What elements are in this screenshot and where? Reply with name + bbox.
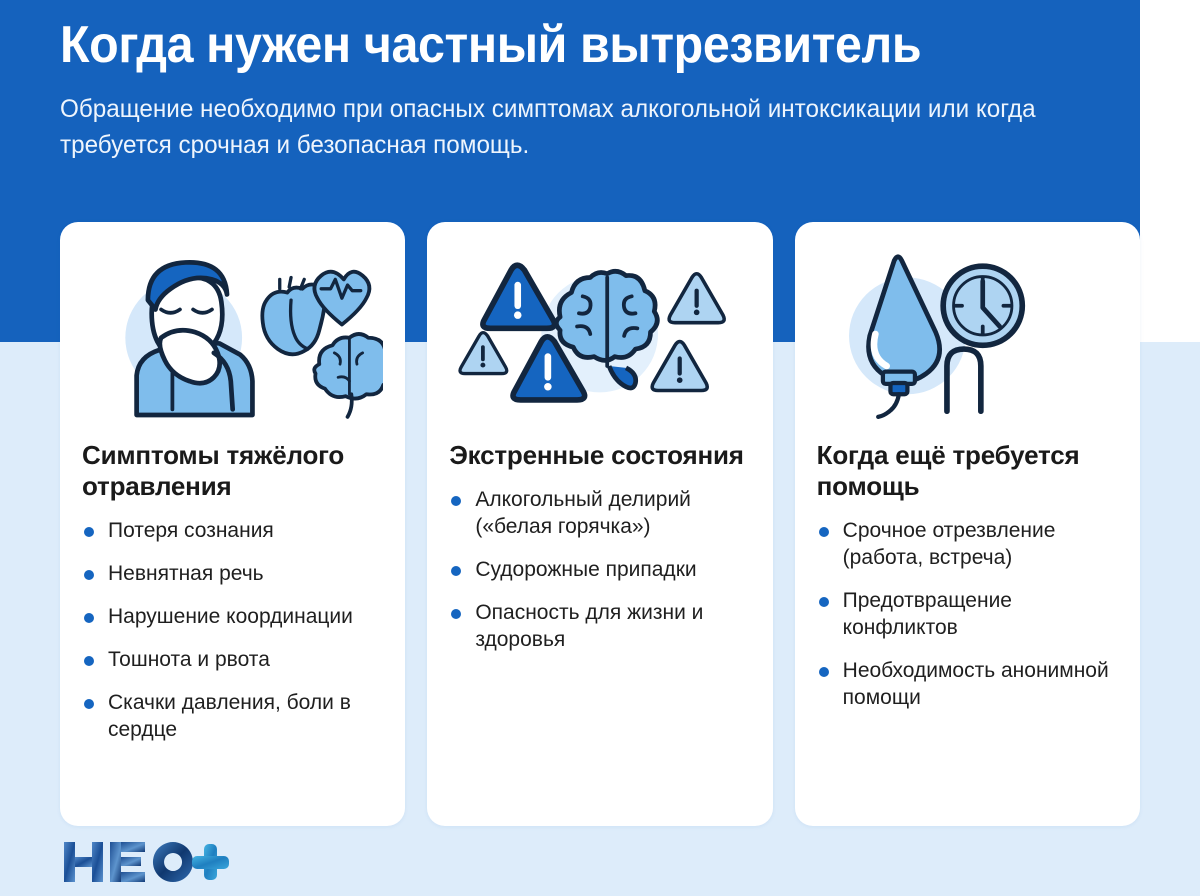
card-heading: Экстренные состояния — [449, 440, 750, 471]
list-item-label: Опасность для жизни и здоровья — [475, 601, 703, 651]
list-item-label: Необходимость анонимной помощи — [843, 659, 1109, 709]
card-heading: Симптомы тяжёлого отравления — [82, 440, 383, 502]
bullet-dot-icon — [84, 570, 94, 580]
list-item-label: Судорожные припадки — [475, 558, 696, 581]
card-heading: Когда ещё требуется помощь — [817, 440, 1118, 502]
iv-drip-and-clock-illustration — [817, 242, 1118, 426]
bullet-dot-icon — [84, 699, 94, 709]
list-item: Невнятная речь — [82, 561, 383, 588]
brain-with-warning-triangles-illustration — [449, 242, 750, 426]
bullet-list: Срочное отрезвление (работа, встреча) Пр… — [817, 518, 1118, 711]
list-item: Скачки давления, боли в сердце — [82, 690, 383, 744]
warning-triangle-icon — [460, 333, 507, 374]
card-when-else-help-needed: Когда ещё требуется помощь Срочное отрез… — [795, 222, 1140, 826]
logo-letter-e — [110, 842, 145, 882]
bullet-list: Потеря сознания Невнятная речь Нарушение… — [82, 518, 383, 743]
logo-letter-n — [64, 842, 103, 882]
list-item-label: Нарушение координации — [108, 605, 353, 628]
list-item-label: Невнятная речь — [108, 562, 264, 585]
list-item: Необходимость анонимной помощи — [817, 658, 1118, 712]
iv-drip-droplet-icon — [868, 257, 939, 417]
cards-row: Симптомы тяжёлого отравления Потеря созн… — [60, 222, 1140, 826]
card-severe-poisoning: Симптомы тяжёлого отравления Потеря созн… — [60, 222, 405, 826]
page-title: Когда нужен частный вытрезвитель — [60, 18, 1074, 72]
card-emergency-states: Экстренные состояния Алкогольный делирий… — [427, 222, 772, 826]
list-item-label: Срочное отрезвление (работа, встреча) — [843, 519, 1056, 569]
warning-triangle-icon — [483, 265, 555, 328]
list-item-label: Скачки давления, боли в сердце — [108, 691, 351, 741]
clock-icon — [943, 266, 1022, 345]
bullet-dot-icon — [819, 597, 829, 607]
list-item: Нарушение координации — [82, 604, 383, 631]
list-item: Потеря сознания — [82, 518, 383, 545]
list-item-label: Предотвращение конфликтов — [843, 589, 1012, 639]
bullet-dot-icon — [84, 613, 94, 623]
bullet-dot-icon — [819, 527, 829, 537]
list-item-label: Алкогольный делирий («белая горячка») — [475, 488, 691, 538]
list-item: Срочное отрезвление (работа, встреча) — [817, 518, 1118, 572]
list-item: Судорожные припадки — [449, 557, 750, 584]
bullet-dot-icon — [84, 656, 94, 666]
list-item: Алкогольный делирий («белая горячка») — [449, 487, 750, 541]
list-item: Тошнота и рвота — [82, 647, 383, 674]
bullet-dot-icon — [451, 496, 461, 506]
bullet-dot-icon — [819, 667, 829, 677]
infographic-page: Когда нужен частный вытрезвитель Обращен… — [0, 0, 1200, 896]
bullet-list: Алкогольный делирий («белая горячка») Су… — [449, 487, 750, 653]
list-item: Предотвращение конфликтов — [817, 588, 1118, 642]
warning-triangle-icon — [653, 342, 708, 391]
bullet-dot-icon — [451, 566, 461, 576]
bullet-dot-icon — [84, 527, 94, 537]
warning-triangle-icon — [669, 274, 724, 323]
list-item-label: Тошнота и рвота — [108, 648, 270, 671]
neo-plus-logo — [62, 838, 232, 886]
nauseated-man-heart-brain-illustration — [82, 242, 383, 426]
header: Когда нужен частный вытрезвитель Обращен… — [60, 18, 1150, 163]
bullet-dot-icon — [451, 609, 461, 619]
logo-plus-icon — [192, 844, 229, 880]
list-item-label: Потеря сознания — [108, 519, 274, 542]
brain-icon — [314, 334, 383, 417]
list-item: Опасность для жизни и здоровья — [449, 600, 750, 654]
logo-letter-o — [153, 842, 193, 882]
page-subtitle: Обращение необходимо при опасных симптом… — [60, 92, 1040, 163]
